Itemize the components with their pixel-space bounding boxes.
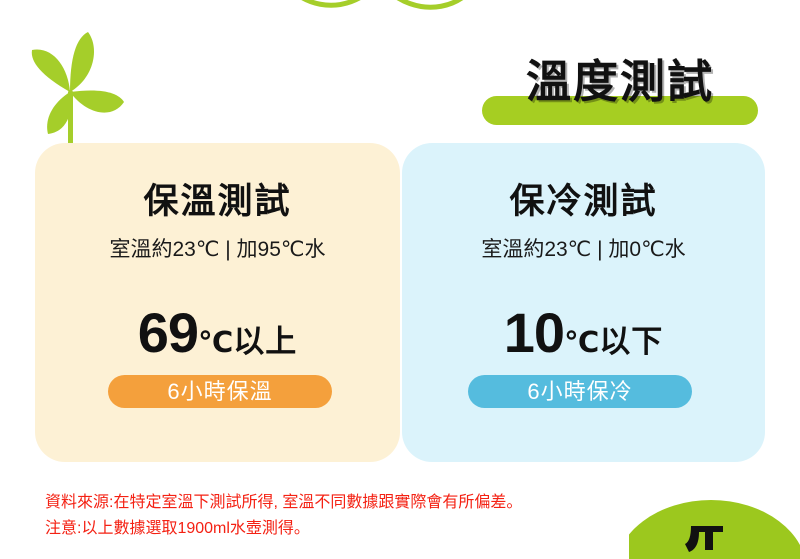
section-title: 溫度測試 [470, 49, 770, 131]
card-cool-value-number: 10 [504, 301, 564, 364]
ribbon-arcs-icon [270, 0, 490, 28]
card-cool-title: 保冷測試 [402, 181, 765, 223]
card-cool-value-tail: 以下 [599, 324, 663, 359]
footnote-source: 資料來源:在特定室溫下測試所得, 室溫不同數據跟實際會有所偏差。 [45, 490, 685, 516]
card-cool-badge: 6小時保冷 [468, 375, 692, 408]
page-title: 溫度測試 [470, 49, 770, 115]
card-cool-value-unit: ℃ [564, 327, 599, 359]
footnotes: 資料來源:在特定室溫下測試所得, 室溫不同數據跟實際會有所偏差。 注意:以上數據… [45, 490, 685, 542]
card-warm-subtitle: 室溫約23℃ | 加95℃水 [35, 236, 400, 264]
card-warm-badge: 6小時保溫 [108, 375, 332, 408]
card-warm-value-unit: ℃ [198, 327, 233, 359]
card-warm-title: 保溫測試 [35, 181, 400, 223]
card-cool-subtitle: 室溫約23℃ | 加0℃水 [402, 236, 765, 264]
card-warm-value-number: 69 [138, 301, 198, 364]
card-warm-value: 69℃以上 [35, 303, 400, 378]
card-warm-value-tail: 以上 [233, 324, 297, 359]
footnote-notice: 注意:以上數據選取1900ml水壺測得。 [45, 516, 685, 542]
card-cool-value: 10℃以下 [402, 303, 765, 378]
card-cool: 保冷測試 室溫約23℃ | 加0℃水 10℃以下 6小時保冷 [402, 143, 765, 462]
infographic-stage: 溫度測試 保溫測試 室溫約23℃ | 加95℃水 69℃以上 6小時保溫 保冷測… [0, 0, 800, 559]
card-warm: 保溫測試 室溫約23℃ | 加95℃水 69℃以上 6小時保溫 [35, 143, 400, 462]
